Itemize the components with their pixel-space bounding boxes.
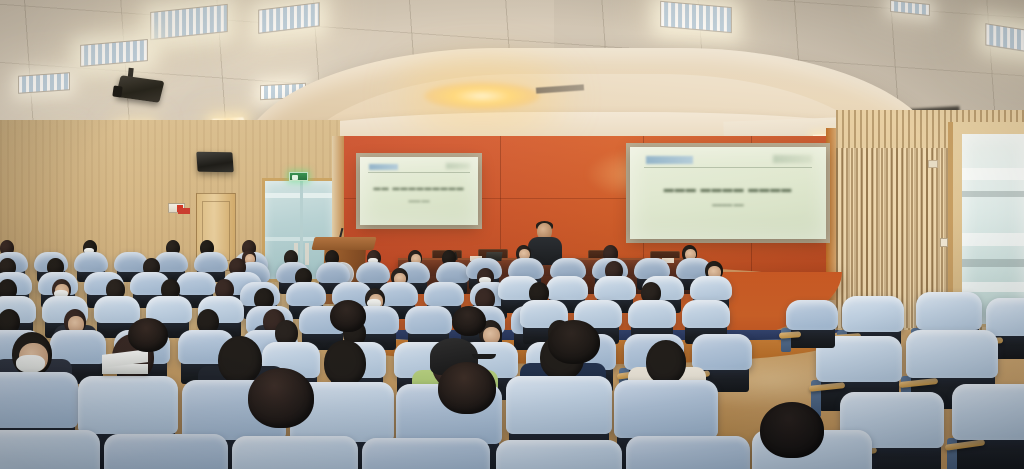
screen-header-rule (368, 172, 470, 173)
seat-cover[interactable] (986, 298, 1024, 336)
seat-cover[interactable] (690, 276, 732, 300)
projector-lens (112, 85, 122, 97)
seat-cover[interactable] (232, 436, 358, 469)
seat-cover[interactable] (356, 262, 390, 283)
person-head (330, 300, 366, 332)
person-head (248, 368, 314, 428)
seat-cover[interactable] (194, 252, 228, 272)
seat-cover[interactable] (506, 376, 612, 434)
person-head (324, 340, 366, 386)
right-projection-screen: ▬▬▬ ▬▬▬▬ ▬▬▬▬▬▬▬▬ ▬▬ (630, 147, 826, 239)
seat-cover[interactable] (692, 334, 752, 370)
lectern-top-surface (311, 237, 376, 250)
loudspeaker-icon (196, 152, 234, 173)
stage-downlight-glow (424, 82, 540, 110)
door-handle-right[interactable] (305, 243, 309, 265)
screen-logo-right (446, 163, 470, 168)
person-head (646, 340, 686, 384)
left-projection-screen: ▬▬ ▬▬▬▬▬▬▬▬▬▬▬▬ ▬▬ (360, 157, 478, 225)
seat-cover[interactable] (906, 330, 998, 378)
seat-cover[interactable] (0, 430, 100, 469)
wall-outlet-plate (928, 160, 938, 168)
audience-person (330, 300, 366, 332)
person-head (452, 306, 486, 336)
seat-cover[interactable] (916, 292, 982, 330)
exit-sign-icon (289, 172, 308, 181)
door-top-rail (265, 193, 333, 198)
screen-slide-subtitle: ▬▬▬▬ ▬▬ (665, 202, 790, 209)
audience-person (548, 320, 600, 364)
seat-cover[interactable] (286, 282, 326, 306)
screen-slide-title: ▬▬ ▬▬▬▬▬▬▬▬▬ (372, 184, 466, 193)
screen-logo-left (369, 164, 397, 170)
screen-slide-subtitle: ▬▬▬ ▬▬ (381, 198, 457, 204)
person-head (760, 402, 824, 458)
seat-cover[interactable] (952, 384, 1024, 440)
person-head (438, 362, 496, 414)
seat-cover[interactable] (78, 376, 178, 434)
light-switch-icon[interactable] (940, 238, 948, 247)
seat-cover[interactable] (176, 272, 216, 295)
seat-cover[interactable] (628, 300, 676, 328)
audience-person (128, 318, 168, 352)
seat-cover[interactable] (405, 306, 452, 334)
seat-cover[interactable] (436, 262, 470, 283)
seat-cover[interactable] (0, 372, 78, 428)
seat-cover[interactable] (546, 276, 588, 300)
seat-cover[interactable] (626, 436, 750, 469)
red-warning-sign (178, 208, 190, 214)
screen-logo-left (646, 156, 693, 164)
audience-person (248, 368, 314, 428)
seat-cover[interactable] (316, 262, 350, 283)
seat-cover[interactable] (682, 300, 730, 328)
seat-cover[interactable] (424, 282, 464, 306)
audience-person (452, 306, 486, 336)
person-head (128, 318, 168, 352)
cap-brim (472, 354, 496, 359)
seat-cover[interactable] (104, 434, 228, 469)
seat-cover[interactable] (614, 380, 718, 438)
face-mask (16, 355, 45, 373)
seat-cover[interactable] (362, 438, 490, 469)
screen-logo-right (773, 155, 812, 162)
screen-slide-title: ▬▬▬ ▬▬▬▬ ▬▬▬▬ (650, 184, 807, 196)
seat-cover[interactable] (74, 252, 108, 272)
seat-cover[interactable] (496, 440, 622, 469)
auditorium-photo: ▬▬ ▬▬▬▬▬▬▬▬▬▬▬▬ ▬▬▬▬▬ ▬▬▬▬ ▬▬▬▬▬▬▬▬ ▬▬ (0, 0, 1024, 469)
audience-person (760, 402, 824, 458)
person-head (548, 320, 600, 364)
seat-cover[interactable] (842, 296, 904, 332)
ceiling-light-panel (18, 72, 70, 94)
screen-header-rule (644, 167, 813, 168)
seat-cover[interactable] (786, 300, 838, 330)
audience-person (438, 362, 496, 414)
seat-cover[interactable] (594, 276, 636, 300)
